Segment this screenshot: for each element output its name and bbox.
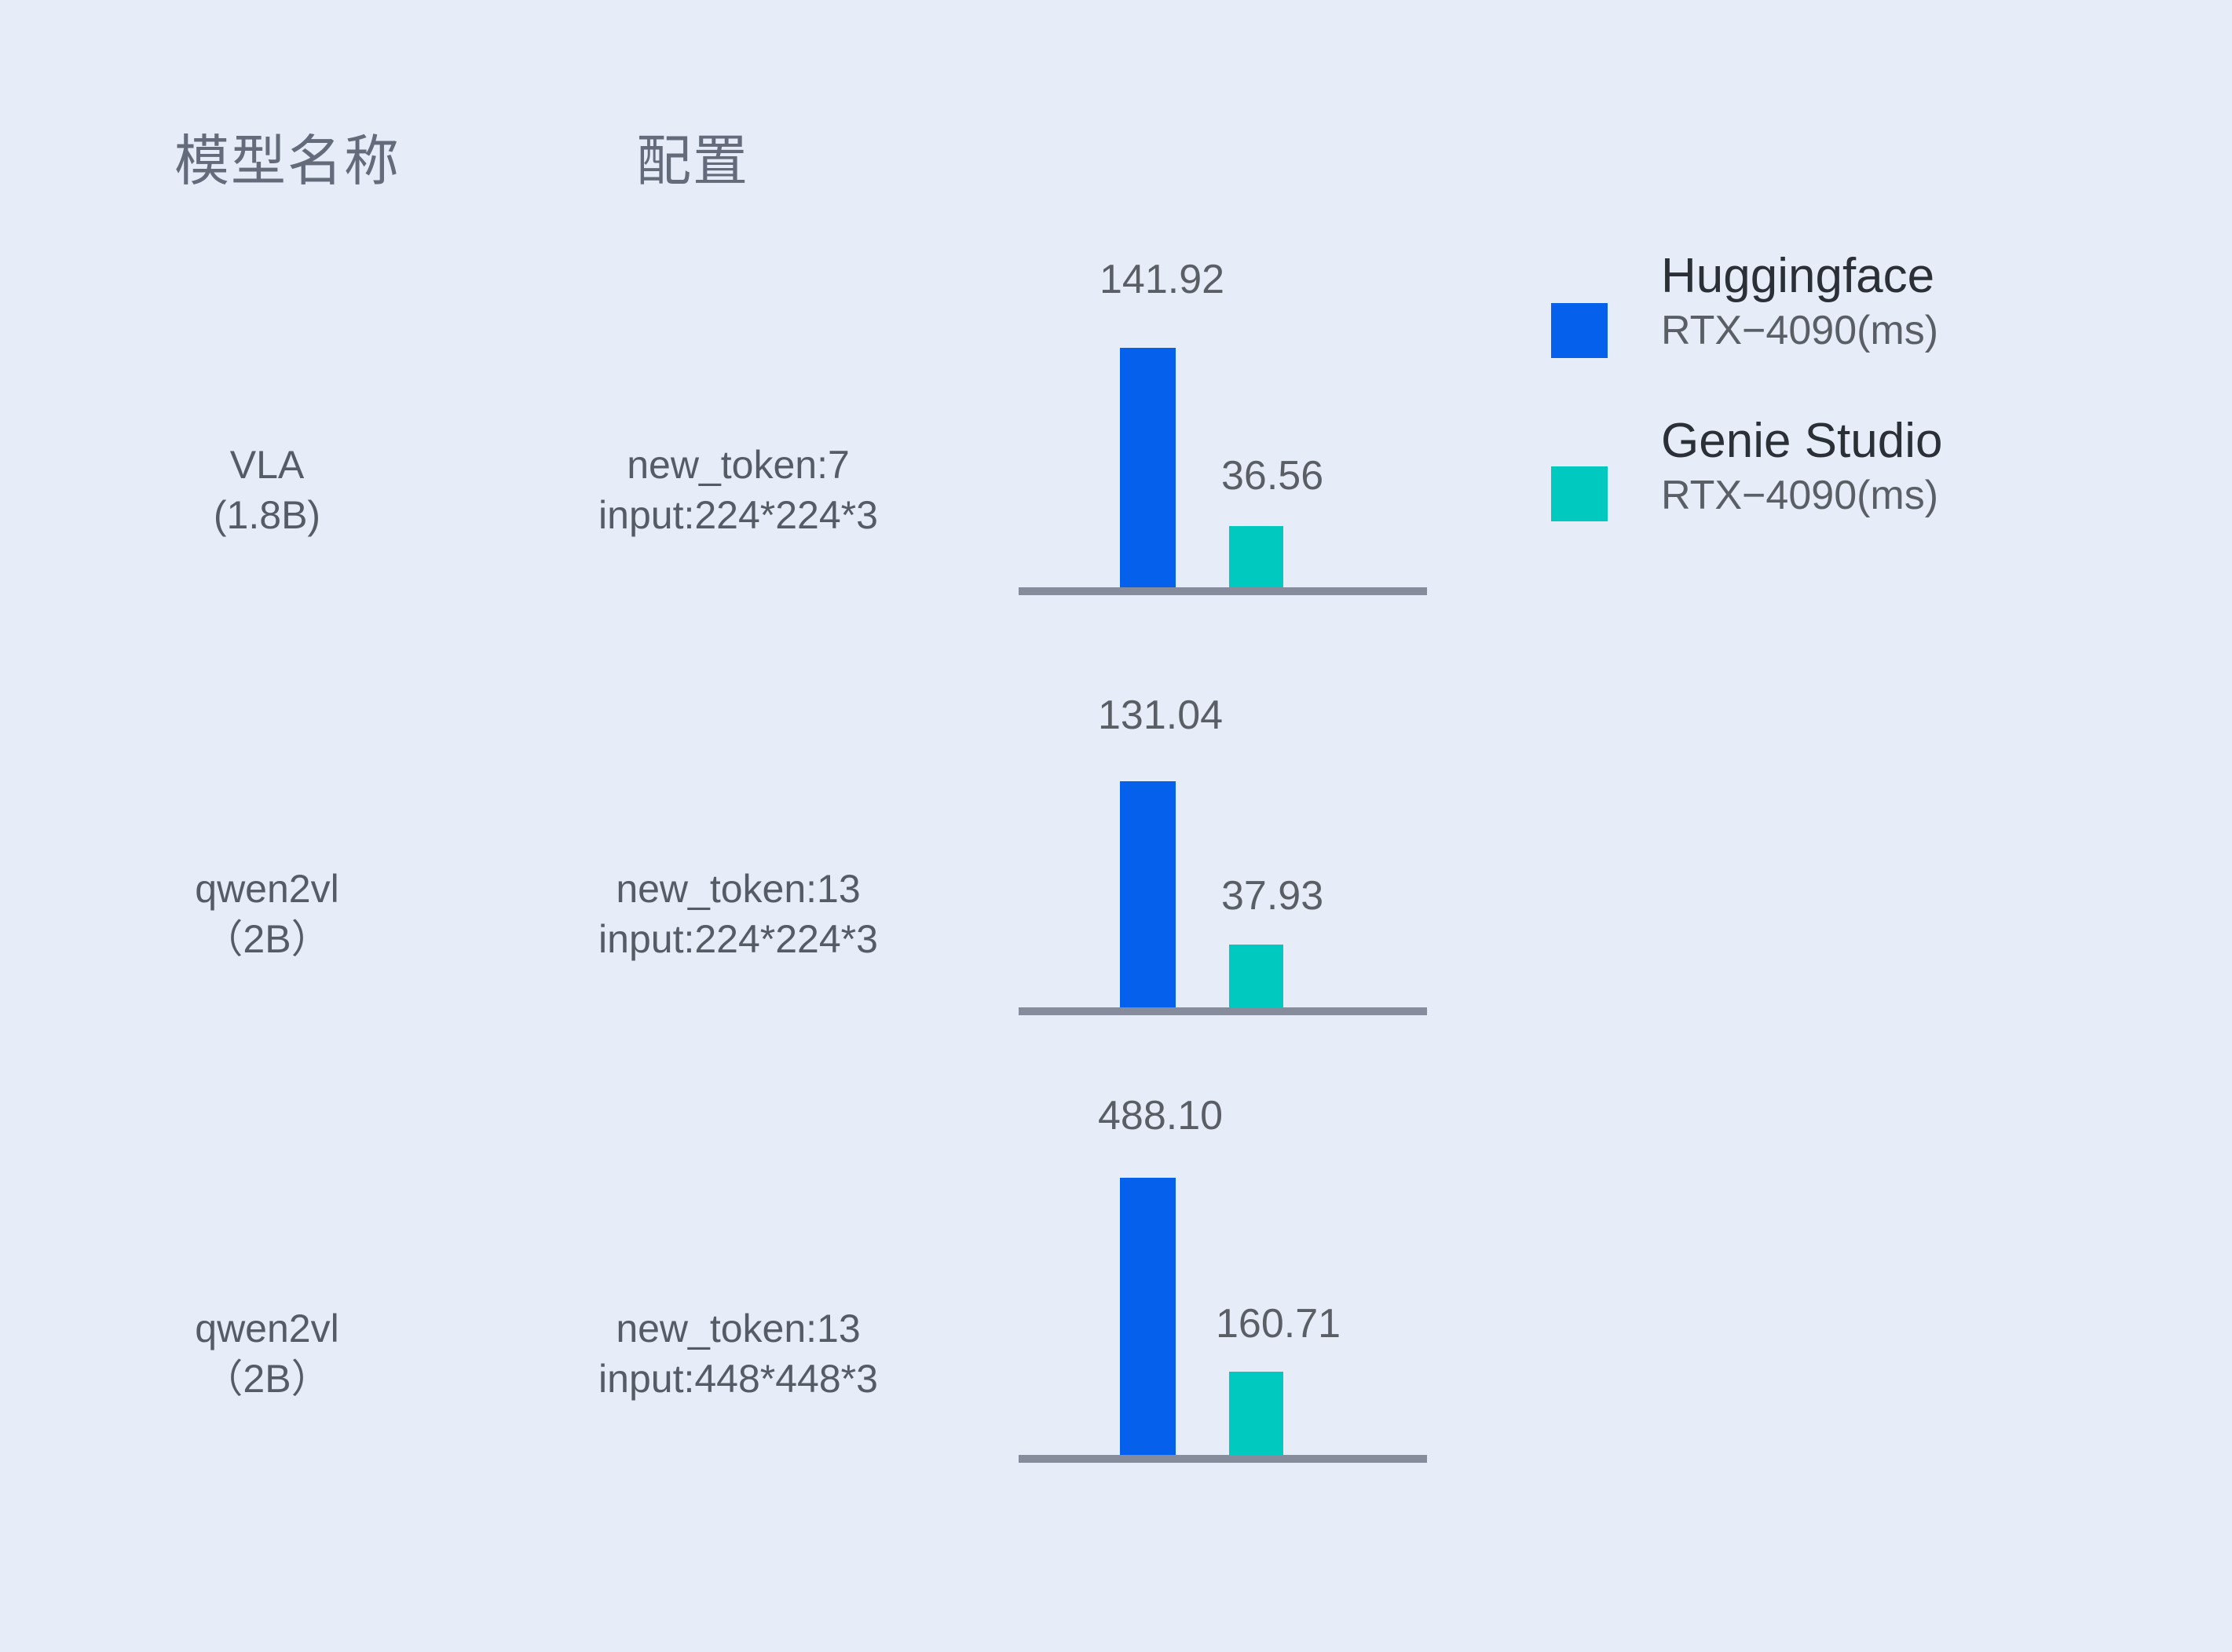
legend-sublabel: RTX−4090(ms) <box>1661 468 1942 523</box>
config-line-2: input:448*448*3 <box>495 1354 982 1404</box>
chart-canvas: 模型名称 配置 VLA (1.8B) new_token:7 input:224… <box>0 0 2232 1652</box>
legend-label-group: Genie Studio RTX−4090(ms) <box>1661 415 1942 523</box>
model-name-line-1: VLA <box>141 440 393 490</box>
model-name-line-2: (1.8B) <box>141 490 393 540</box>
bar-genie-studio <box>1229 526 1283 587</box>
config-cell: new_token:13 input:448*448*3 <box>495 1303 982 1404</box>
bar-genie-studio <box>1229 1372 1283 1463</box>
bar-value-genie-studio: 36.56 <box>1221 455 1323 496</box>
config-line-2: input:224*224*3 <box>495 914 982 964</box>
legend-item-huggingface[interactable]: Huggingface RTX−4090(ms) <box>1551 250 2195 415</box>
config-line-1: new_token:13 <box>495 864 982 914</box>
row-baseline <box>1019 1007 1427 1015</box>
model-name-line-1: qwen2vl <box>141 1303 393 1354</box>
bar-value-genie-studio: 160.71 <box>1216 1303 1341 1344</box>
legend-item-genie-studio[interactable]: Genie Studio RTX−4090(ms) <box>1551 415 2195 579</box>
model-name-cell: qwen2vl （2B） <box>141 864 393 964</box>
config-cell: new_token:13 input:224*224*3 <box>495 864 982 964</box>
config-line-1: new_token:13 <box>495 1303 982 1354</box>
bar-value-huggingface: 131.04 <box>1098 695 1223 736</box>
legend-label: Genie Studio <box>1661 415 1942 468</box>
legend-swatch-icon <box>1551 303 1608 358</box>
legend-label: Huggingface <box>1661 250 1938 303</box>
legend-sublabel: RTX−4090(ms) <box>1661 303 1938 358</box>
column-header-model-name: 模型名称 <box>174 133 401 188</box>
model-name-line-2: （2B） <box>141 914 393 964</box>
row-baseline <box>1019 1455 1427 1463</box>
model-name-cell: qwen2vl （2B） <box>141 1303 393 1404</box>
bar-huggingface <box>1120 348 1176 587</box>
row-baseline <box>1019 587 1427 595</box>
bar-huggingface <box>1120 1178 1176 1463</box>
column-header-config: 配置 <box>636 133 749 188</box>
config-line-1: new_token:7 <box>495 440 982 490</box>
chart-legend: Huggingface RTX−4090(ms) Genie Studio RT… <box>1551 250 2195 579</box>
model-name-line-2: （2B） <box>141 1354 393 1404</box>
config-line-2: input:224*224*3 <box>495 490 982 540</box>
bar-value-huggingface: 488.10 <box>1098 1095 1223 1136</box>
model-name-line-1: qwen2vl <box>141 864 393 914</box>
legend-label-group: Huggingface RTX−4090(ms) <box>1661 250 1938 358</box>
legend-swatch-icon <box>1551 466 1608 521</box>
bar-huggingface <box>1120 781 1176 1007</box>
config-cell: new_token:7 input:224*224*3 <box>495 440 982 540</box>
model-name-cell: VLA (1.8B) <box>141 440 393 540</box>
bar-value-huggingface: 141.92 <box>1100 259 1224 300</box>
bar-genie-studio <box>1229 945 1283 1007</box>
bar-value-genie-studio: 37.93 <box>1221 875 1323 916</box>
